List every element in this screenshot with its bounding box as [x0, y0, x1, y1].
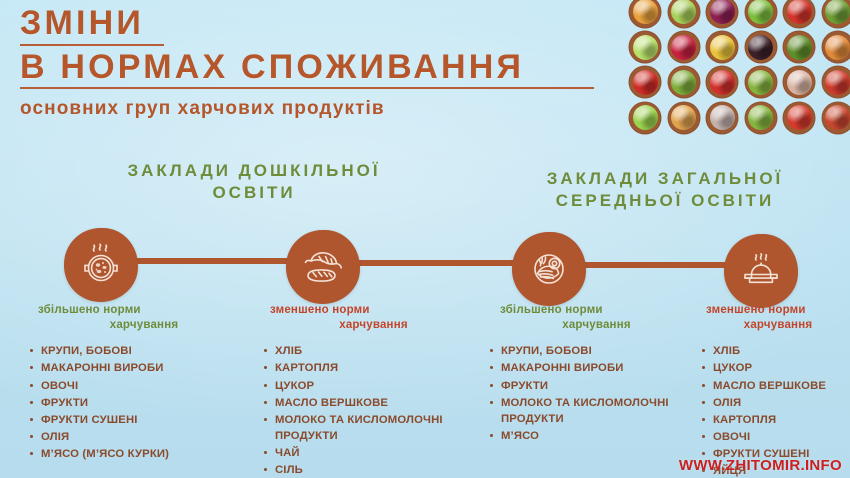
product-list: ХЛІБ КАРТОПЛЯ ЦУКОР МАСЛО ВЕРШКОВЕ МОЛОК… — [262, 343, 477, 477]
food-bowl — [780, 100, 819, 135]
covered-dish-icon — [737, 250, 785, 292]
title-underline-2 — [20, 87, 594, 89]
soup-bowl-icon — [78, 242, 124, 288]
infographic-slide: ЗМІНИ В НОРМАХ СПОЖИВАННЯ основних груп … — [0, 0, 850, 478]
list-item: МАСЛО ВЕРШКОВЕ — [262, 395, 477, 411]
food-bowl — [780, 65, 819, 100]
title-block: ЗМІНИ В НОРМАХ СПОЖИВАННЯ основних груп … — [20, 6, 640, 120]
column-heading: зменшено норми харчування — [262, 303, 477, 332]
list-item: КАРТОПЛЯ — [700, 412, 850, 428]
list-item: М’ЯСО — [488, 428, 693, 444]
page-title-line-1: ЗМІНИ — [20, 6, 640, 41]
list-item: ЦУКОР — [700, 360, 850, 376]
column-heading-line-2: харчування — [262, 318, 477, 333]
food-bowl — [742, 0, 781, 29]
list-item: КРУПИ, БОБОВІ — [488, 343, 693, 359]
node-bread[interactable] — [286, 230, 360, 304]
food-bowl — [742, 65, 781, 100]
food-bowl — [665, 65, 704, 100]
list-item: КРУПИ, БОБОВІ — [28, 343, 250, 359]
product-list: КРУПИ, БОБОВІ МАКАРОННІ ВИРОБИ ОВОЧІ ФРУ… — [28, 343, 250, 461]
column-heading-line-1: збільшено норми — [500, 304, 603, 316]
column-heading-line-1: зменшено норми — [270, 304, 370, 316]
food-bowl — [665, 29, 704, 64]
food-bowl — [665, 100, 704, 135]
meat-plate-icon — [526, 246, 572, 292]
product-list: КРУПИ, БОБОВІ МАКАРОННІ ВИРОБИ ФРУКТИ МО… — [488, 343, 693, 443]
connector-segment-3 — [578, 262, 728, 268]
food-bowl — [780, 0, 819, 29]
column-heading-line-2: харчування — [28, 318, 250, 333]
list-item: МОЛОКО ТА КИСЛОМОЛОЧНІ ПРОДУКТИ — [488, 395, 693, 427]
connector-segment-1 — [130, 258, 290, 264]
food-bowl — [703, 0, 742, 29]
food-bowl — [703, 65, 742, 100]
list-item: ОЛІЯ — [700, 395, 850, 411]
food-bowl — [819, 65, 850, 100]
title-underline-1 — [20, 44, 164, 46]
column-heading-line-2: харчування — [488, 318, 693, 333]
column-heading-line-2: харчування — [700, 318, 850, 333]
watermark: WWW.ZHITOMIR.INFO — [679, 457, 842, 474]
list-item: МАСЛО ВЕРШКОВЕ — [700, 378, 850, 394]
node-meat-plate[interactable] — [512, 232, 586, 306]
column-school-increase: збільшено норми харчування КРУПИ, БОБОВІ… — [488, 303, 693, 445]
food-bowl — [742, 29, 781, 64]
column-preschool-decrease: зменшено норми харчування ХЛІБ КАРТОПЛЯ … — [262, 303, 477, 478]
list-item: ФРУКТИ СУШЕНІ — [28, 412, 250, 428]
column-heading-line-1: збільшено норми — [38, 304, 141, 316]
list-item: МАКАРОННІ ВИРОБИ — [28, 360, 250, 376]
page-title-line-2: В НОРМАХ СПОЖИВАННЯ — [20, 50, 640, 85]
list-item: ХЛІБ — [262, 343, 477, 359]
column-school-decrease: зменшено норми харчування ХЛІБ ЦУКОР МАС… — [700, 303, 850, 478]
column-heading-line-1: зменшено норми — [706, 304, 806, 316]
node-soup-bowl[interactable] — [64, 228, 138, 302]
node-covered-dish[interactable] — [724, 234, 798, 308]
food-bowl — [780, 29, 819, 64]
list-item: ФРУКТИ — [488, 378, 693, 394]
food-bowl — [819, 100, 850, 135]
list-item: КАРТОПЛЯ — [262, 360, 477, 376]
food-bowl — [665, 0, 704, 29]
page-subtitle: основних груп харчових продуктів — [20, 98, 640, 120]
column-heading: збільшено норми харчування — [28, 303, 250, 332]
food-photo-grid — [626, 0, 850, 136]
list-item: МАКАРОННІ ВИРОБИ — [488, 360, 693, 376]
food-bowl — [742, 100, 781, 135]
list-item: МОЛОКО ТА КИСЛОМОЛОЧНІ ПРОДУКТИ — [262, 412, 477, 444]
connector-segment-2 — [352, 260, 522, 266]
bread-croissant-icon — [299, 245, 347, 289]
list-item: ХЛІБ — [700, 343, 850, 359]
column-heading: збільшено норми харчування — [488, 303, 693, 332]
list-item: ОВОЧІ — [28, 378, 250, 394]
list-item: ОВОЧІ — [700, 429, 850, 445]
column-heading: зменшено норми харчування — [700, 303, 850, 332]
food-bowl — [819, 0, 850, 29]
food-bowl — [703, 100, 742, 135]
list-item: ОЛІЯ — [28, 429, 250, 445]
food-bowl — [819, 29, 850, 64]
list-item: ЧАЙ — [262, 445, 477, 461]
group-heading-preschool: ЗАКЛАДИ ДОШКІЛЬНОЇ ОСВІТИ — [104, 160, 404, 205]
list-item: М’ЯСО (М’ЯСО КУРКИ) — [28, 446, 250, 462]
list-item: СІЛЬ — [262, 462, 477, 478]
group-heading-school: ЗАКЛАДИ ЗАГАЛЬНОЇ СЕРЕДНЬОЇ ОСВІТИ — [480, 168, 850, 213]
list-item: ЦУКОР — [262, 378, 477, 394]
food-bowl — [703, 29, 742, 64]
list-item: ФРУКТИ — [28, 395, 250, 411]
column-preschool-increase: збільшено норми харчування КРУПИ, БОБОВІ… — [28, 303, 250, 463]
